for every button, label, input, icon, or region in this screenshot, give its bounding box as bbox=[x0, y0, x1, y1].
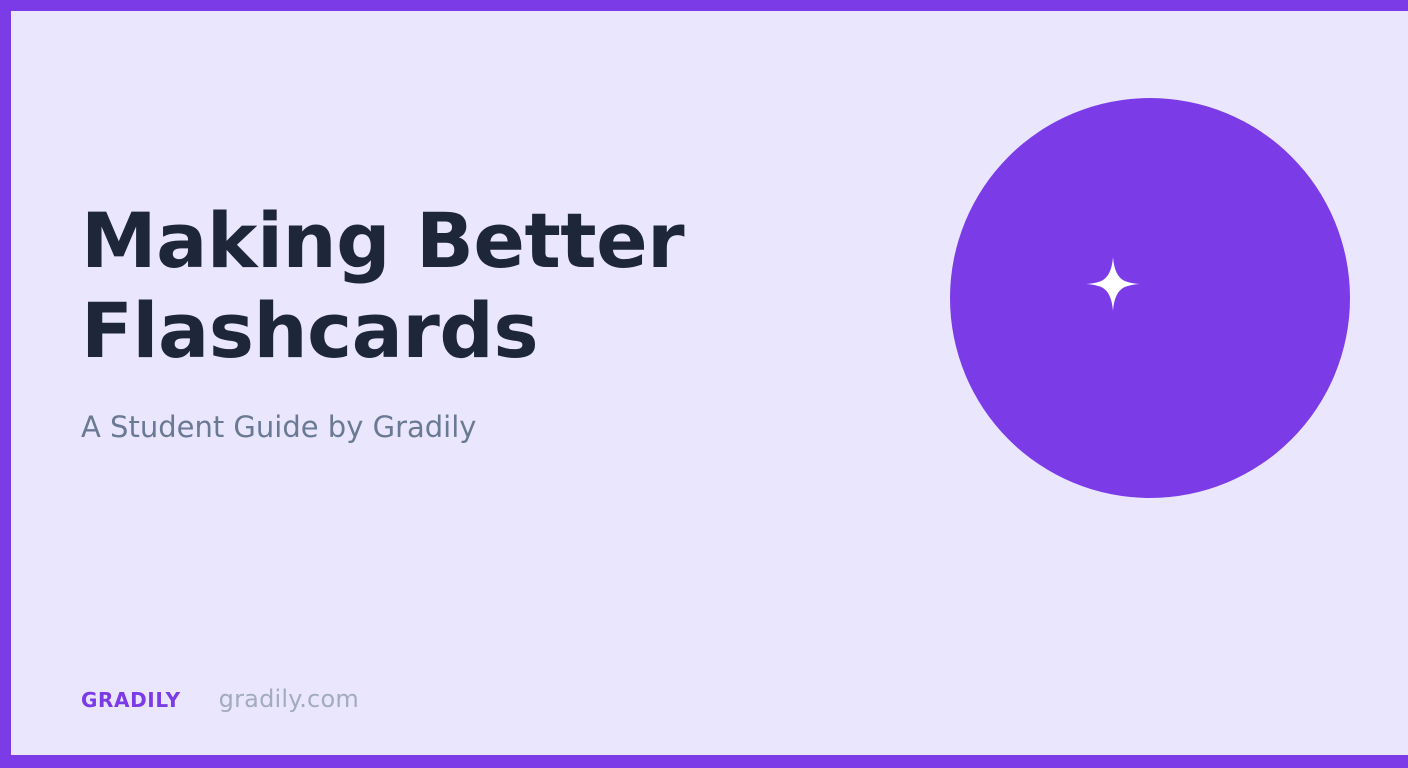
slide-footer: GRADILY gradily.com bbox=[81, 685, 359, 713]
slide-canvas: Making Better Flashcards A Student Guide… bbox=[11, 11, 1408, 755]
headline-block: Making Better Flashcards A Student Guide… bbox=[81, 196, 841, 446]
sparkle-icon bbox=[1085, 256, 1141, 312]
page-title: Making Better Flashcards bbox=[81, 196, 841, 376]
brand-url: gradily.com bbox=[219, 685, 359, 713]
page-subtitle: A Student Guide by Gradily bbox=[81, 376, 841, 446]
decorative-circle bbox=[950, 98, 1350, 498]
brand-logo: GRADILY bbox=[81, 688, 181, 712]
slide-frame: Making Better Flashcards A Student Guide… bbox=[0, 0, 1408, 768]
